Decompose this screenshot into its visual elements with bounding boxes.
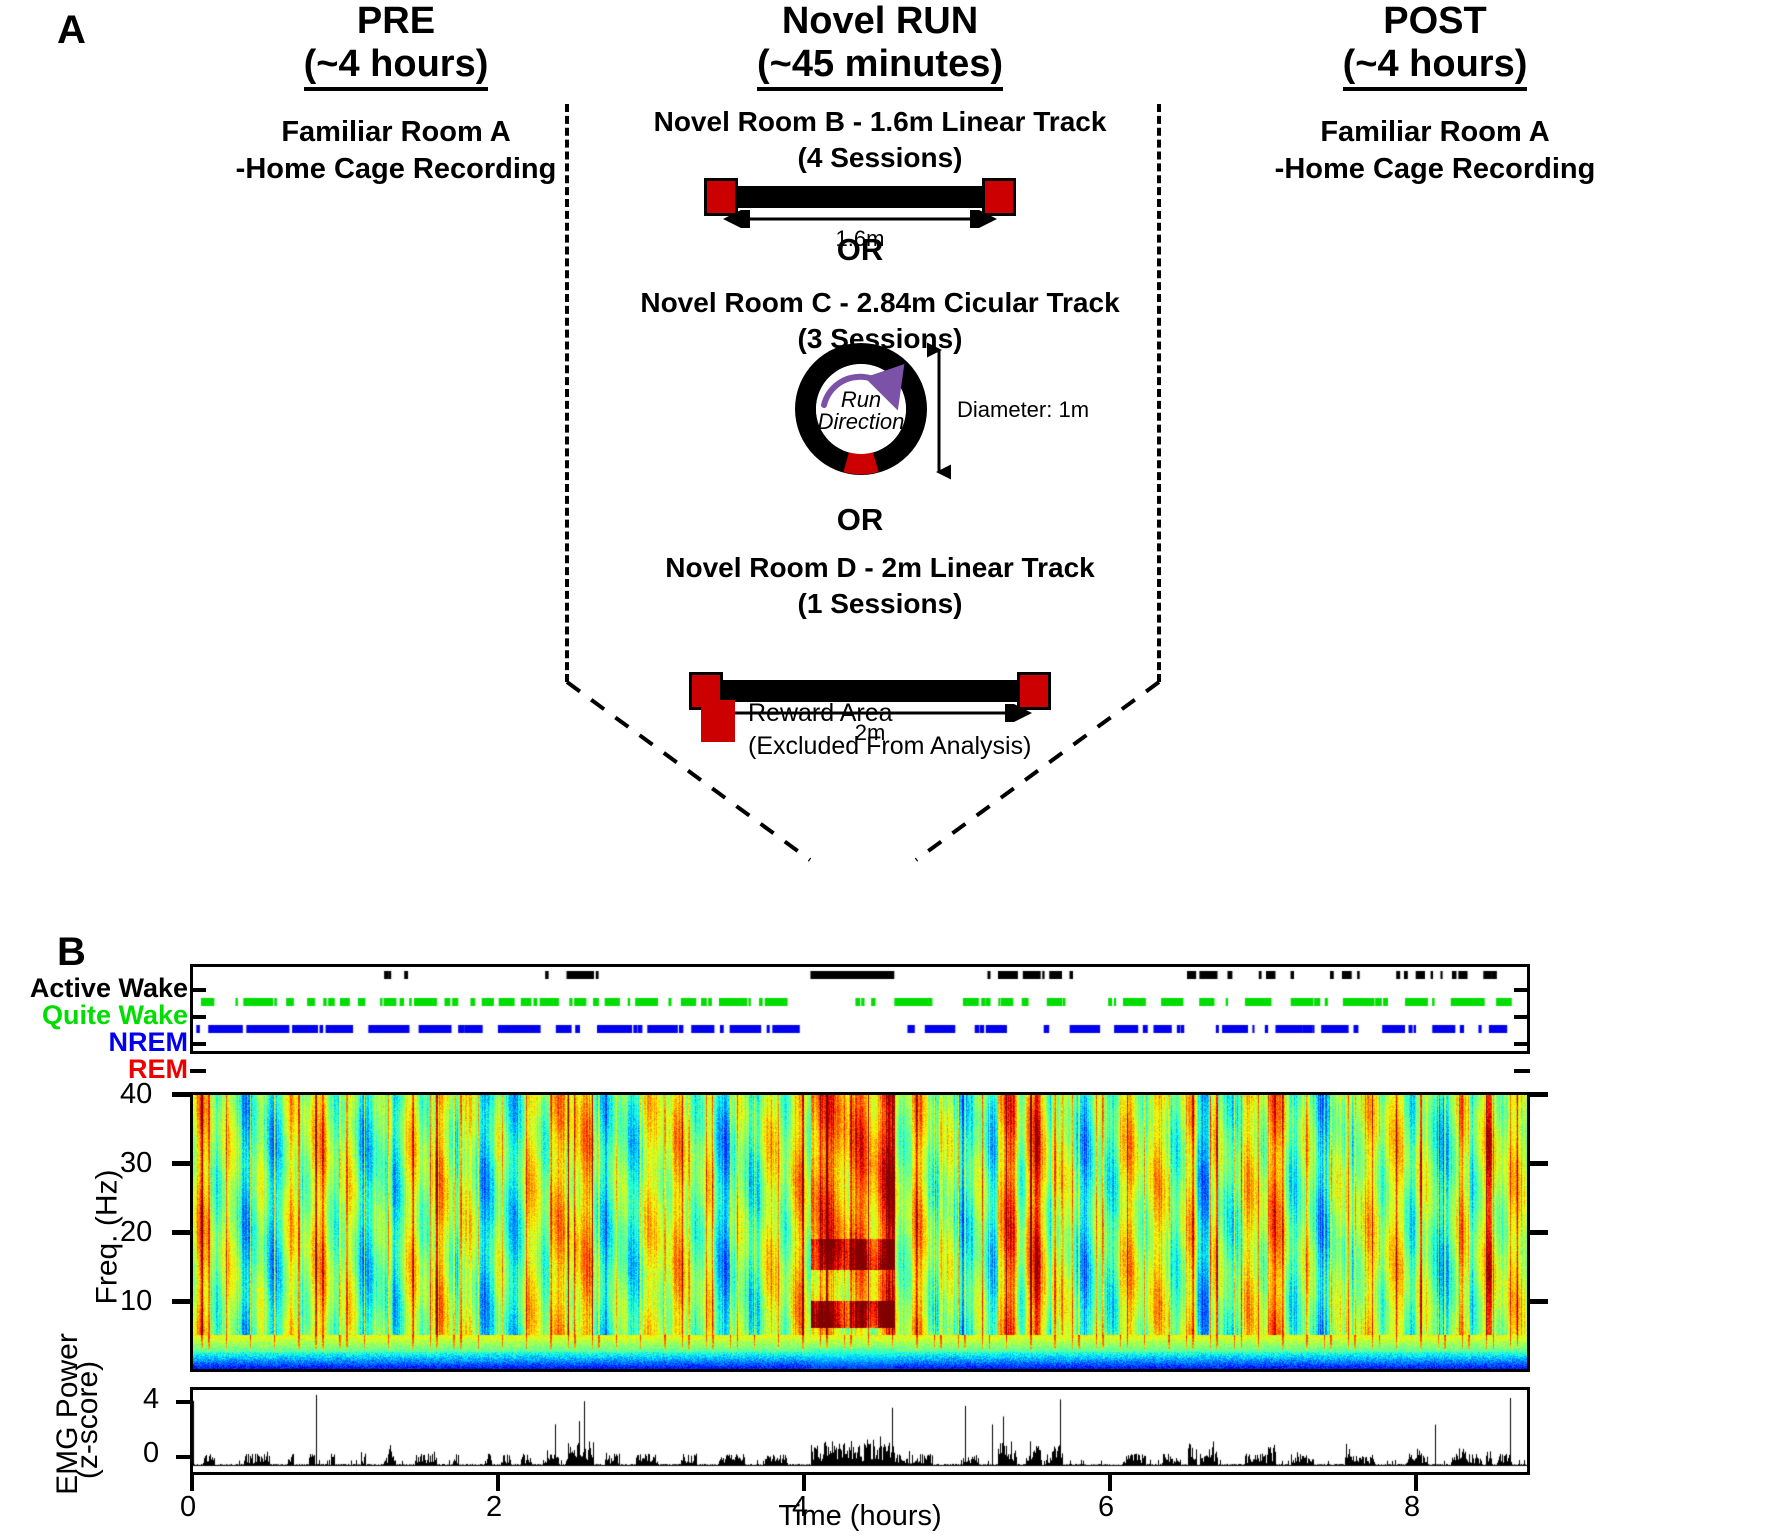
or-label-1: OR — [700, 232, 1020, 268]
emg-ylabel-line2: (z-score) — [71, 1361, 105, 1479]
spectrogram-ytick-10: 10 — [120, 1285, 152, 1318]
panel-b-letter: B — [57, 930, 86, 975]
hypnogram-tick-nrem — [190, 1042, 206, 1046]
room-d-sessions: (1 Sessions) — [600, 586, 1160, 622]
phase-sub-pre-line1: Familiar Room A — [126, 114, 666, 151]
or-label-2: OR — [700, 502, 1020, 538]
spec-tick-10 — [172, 1299, 192, 1304]
phase-title-run: Novel RUN (~45 minutes) — [620, 0, 1140, 91]
hypnogram-rtick-rem — [1514, 1069, 1530, 1073]
emg-ytick-0: 0 — [143, 1437, 159, 1470]
room-b-title: Novel Room B - 1.6m Linear Track (4 Sess… — [600, 104, 1160, 177]
spec-tick-20 — [172, 1230, 192, 1235]
phase-sub-post-line1: Familiar Room A — [1165, 114, 1705, 151]
phase-title-pre-name: PRE — [156, 0, 636, 43]
phase-title-pre: PRE (~4 hours) — [156, 0, 636, 91]
spectrogram-ytick-30: 30 — [120, 1147, 152, 1180]
hypnogram-tick-quite-wake — [190, 1015, 206, 1019]
xtick-8 — [1414, 1475, 1418, 1491]
funnel-dashed-connectors — [0, 660, 1787, 910]
room-b-track-diagram: 1.6m — [700, 176, 1020, 238]
room-c-title-text: Novel Room C - 2.84m Cicular Track — [590, 285, 1170, 321]
room-d-title-text: Novel Room D - 2m Linear Track — [600, 550, 1160, 586]
phase-sub-post-line2: -Home Cage Recording — [1165, 151, 1705, 188]
room-c-dimension-label: Diameter: 1m — [957, 397, 1089, 423]
spec-rtick-40 — [1528, 1092, 1548, 1097]
phase-title-post-name: POST — [1175, 0, 1695, 43]
emg-trace — [193, 1390, 1527, 1472]
hypnogram-rtick-quite-wake — [1514, 1015, 1530, 1019]
phase-sub-post: Familiar Room A -Home Cage Recording — [1165, 114, 1705, 188]
emg-ytick-4: 4 — [143, 1383, 159, 1416]
xtick-0 — [190, 1475, 194, 1491]
run-direction-line1: Run — [811, 389, 911, 411]
phase-title-post: POST (~4 hours) — [1175, 0, 1695, 91]
spec-rtick-30 — [1528, 1161, 1548, 1166]
phase-title-pre-duration: (~4 hours) — [304, 43, 489, 92]
phase-sub-pre-line2: -Home Cage Recording — [126, 151, 666, 188]
xtick-2 — [496, 1475, 500, 1491]
phase-title-run-name: Novel RUN — [620, 0, 1140, 43]
spec-tick-40 — [172, 1092, 192, 1097]
spectrogram-ytick-40: 40 — [120, 1078, 152, 1111]
panel-a-letter: A — [57, 8, 86, 53]
xaxis-label: Time (hours) — [190, 1500, 1530, 1533]
room-b-title-text: Novel Room B - 1.6m Linear Track — [600, 104, 1160, 140]
phase-sub-pre: Familiar Room A -Home Cage Recording — [126, 114, 666, 188]
room-b-track-bar — [714, 186, 1006, 208]
spectrogram-ytick-20: 20 — [120, 1216, 152, 1249]
hypnogram-rtick-active-wake — [1514, 988, 1530, 992]
room-b-sessions: (4 Sessions) — [600, 140, 1160, 176]
room-d-title: Novel Room D - 2m Linear Track (1 Sessio… — [600, 550, 1160, 623]
hypnogram-rtick-nrem — [1514, 1042, 1530, 1046]
spec-tick-30 — [172, 1161, 192, 1166]
spectrogram-image — [193, 1095, 1527, 1369]
xtick-6 — [1108, 1475, 1112, 1491]
spec-rtick-10 — [1528, 1299, 1548, 1304]
emg-tick-0 — [176, 1455, 192, 1459]
diameter-arrow — [927, 341, 951, 481]
spec-rtick-20 — [1528, 1230, 1548, 1235]
phase-title-post-duration: (~4 hours) — [1343, 43, 1528, 92]
run-direction-line2: Direction — [811, 411, 911, 433]
hypnogram-raster — [193, 967, 1527, 1051]
run-direction-label: Run Direction — [811, 389, 911, 434]
phase-title-run-duration: (~45 minutes) — [757, 43, 1003, 92]
hypnogram-tick-rem — [190, 1069, 206, 1073]
room-c-track-diagram: Run Direction Diameter: 1m — [795, 343, 1095, 493]
xtick-4 — [802, 1475, 806, 1491]
state-label-rem: REM — [0, 1054, 188, 1085]
divider-left-dashed — [565, 104, 569, 682]
emg-tick-4 — [176, 1400, 192, 1404]
hypnogram-tick-active-wake — [190, 988, 206, 992]
